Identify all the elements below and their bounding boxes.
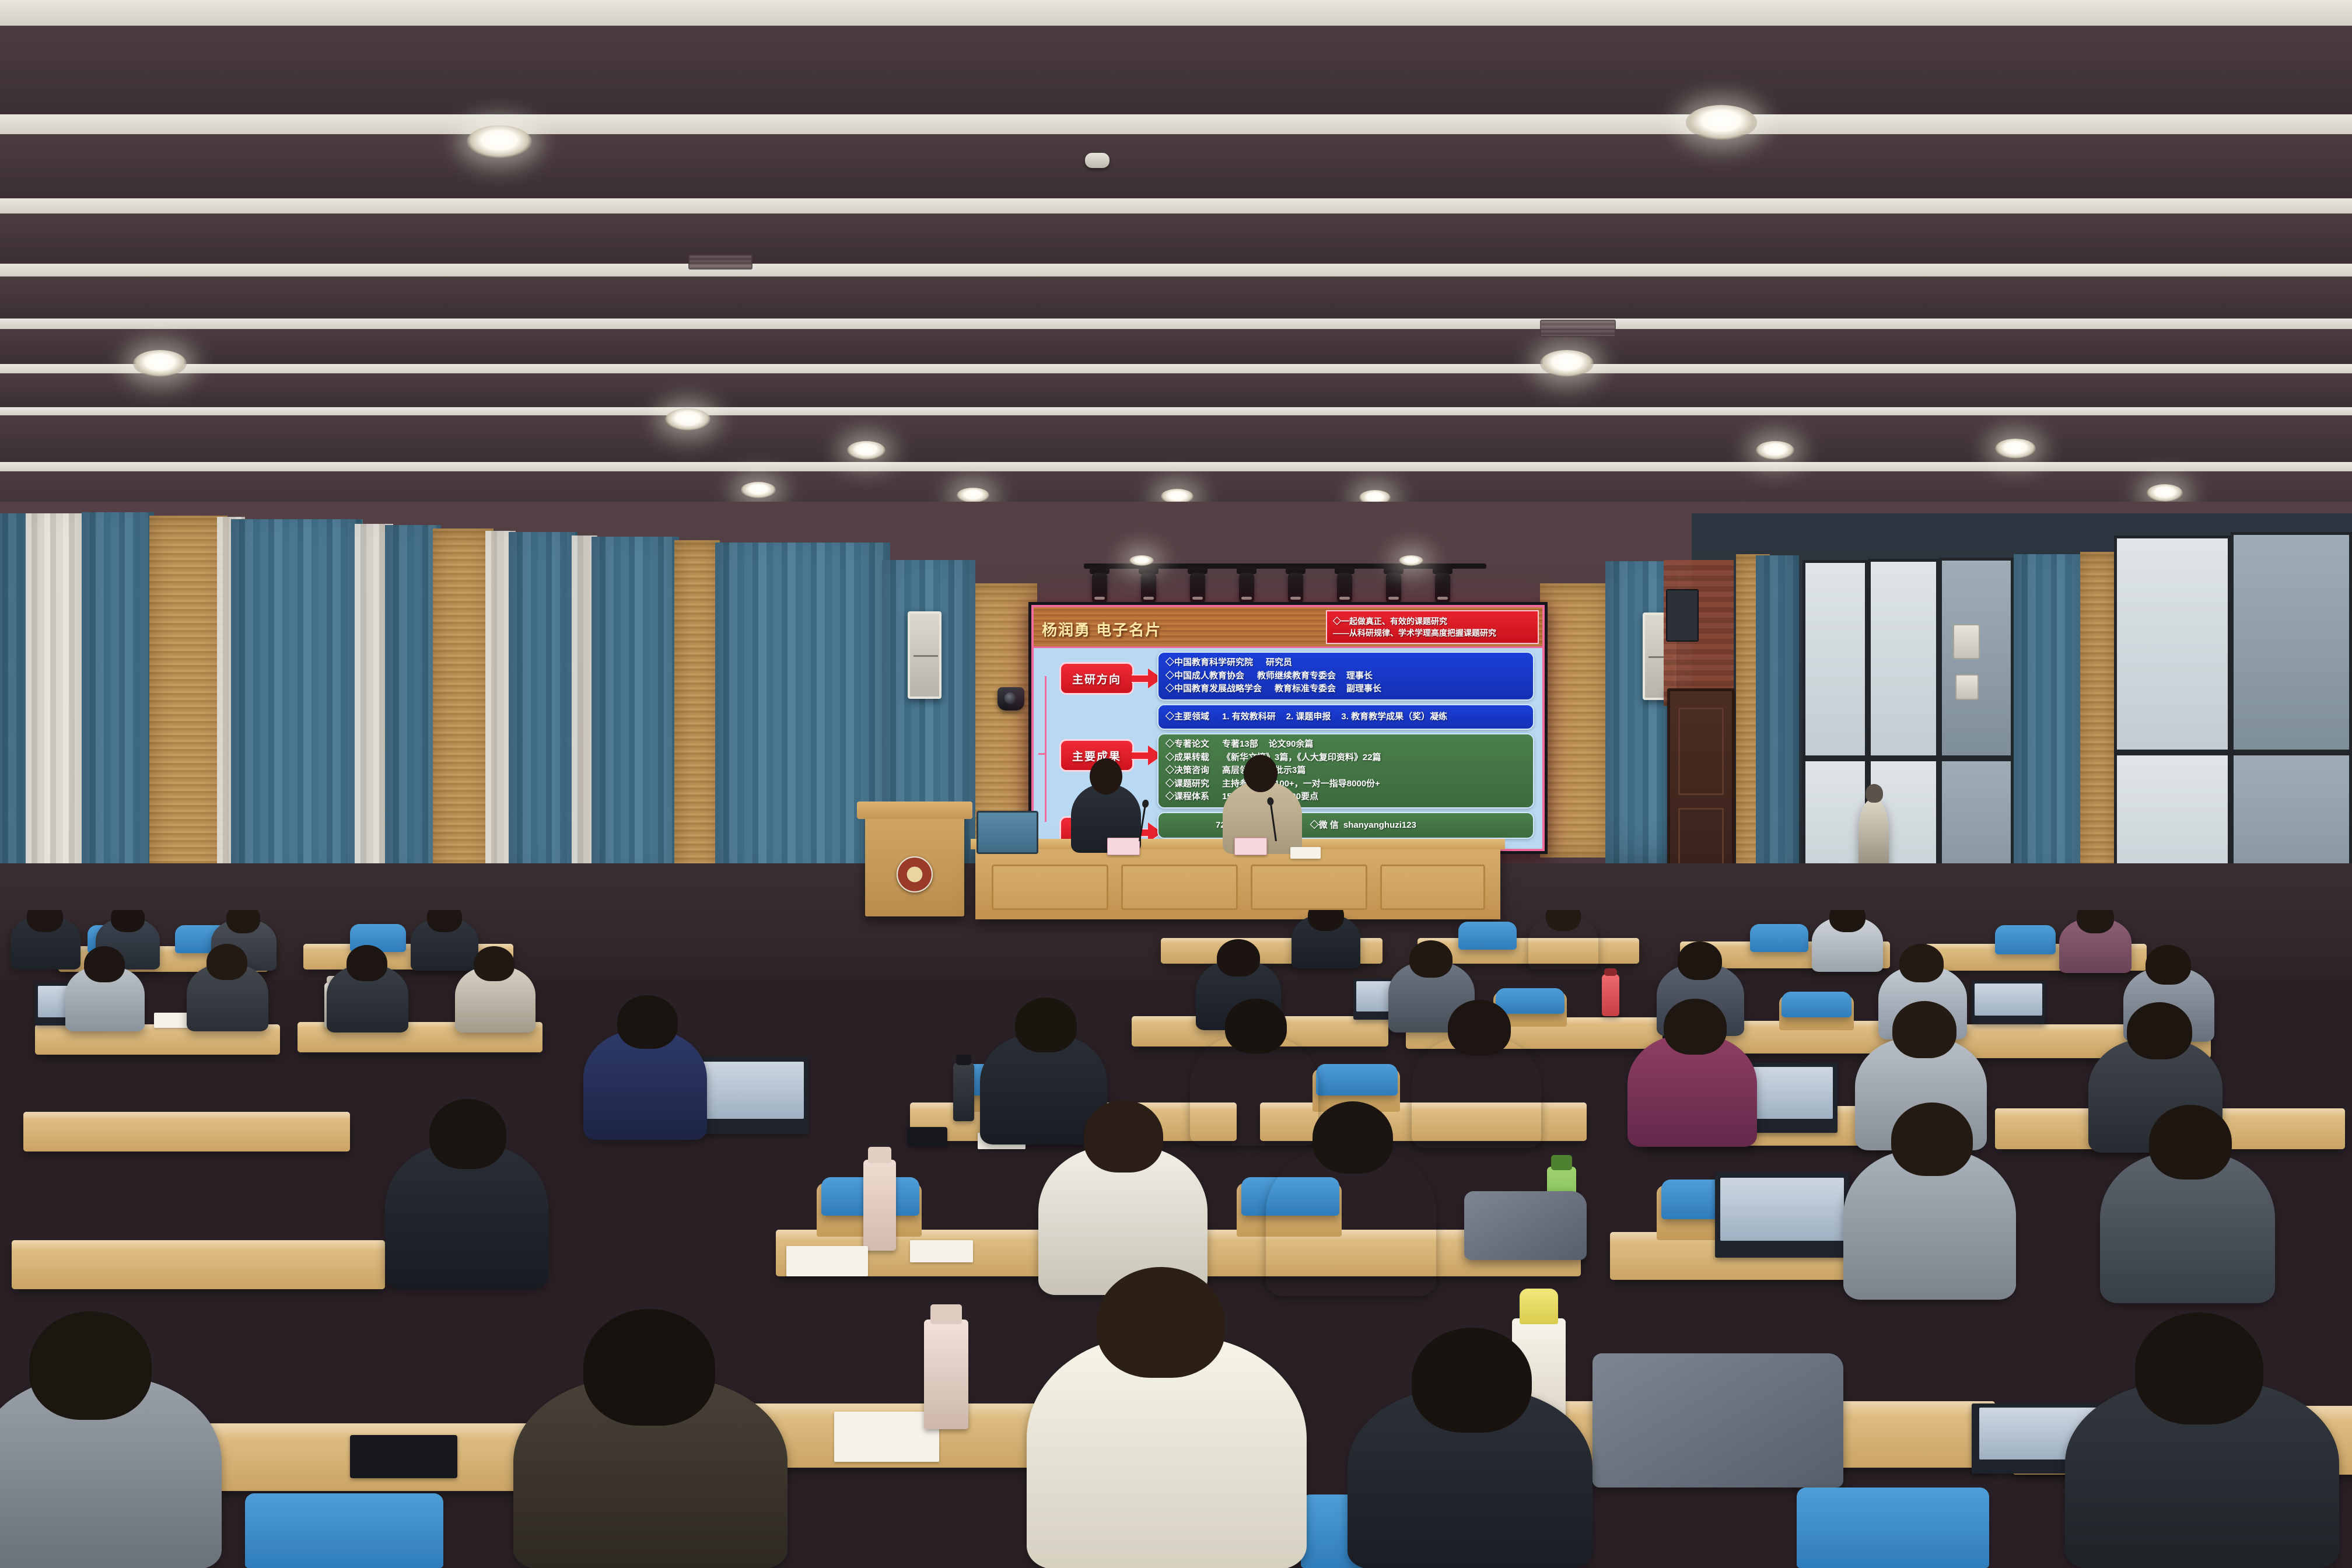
affiliation-org: ◇中国成人教育协会 <box>1165 670 1244 683</box>
audience-head <box>29 1311 152 1420</box>
audience-head <box>2135 1312 2263 1424</box>
sheer-curtain <box>26 513 90 922</box>
audience-head <box>1899 944 1944 982</box>
audience-chair <box>1995 925 2056 954</box>
achievement-label: ◇专著论文 <box>1165 738 1209 751</box>
institution-emblem <box>897 856 933 892</box>
smartphone[interactable] <box>908 1127 947 1146</box>
backpack <box>1592 1353 1843 1487</box>
thermos-bottle <box>924 1319 968 1429</box>
ceiling-downlight <box>957 488 989 503</box>
audience-chair <box>1316 1064 1398 1095</box>
wall-speaker <box>908 611 942 699</box>
paper-sheet <box>910 1240 973 1262</box>
achievement-label: ◇课程体系 <box>1165 790 1209 804</box>
audience-chair <box>1458 922 1517 950</box>
affiliation-dept: 研究员 <box>1266 656 1292 670</box>
fields-box: ◇主要领域 1. 有效教科研 2. 课题申报 3. 教育教学成果（奖）凝练 <box>1157 704 1534 730</box>
wood-wall-panel <box>1540 583 1610 857</box>
ceiling-vent <box>1540 320 1616 337</box>
contact-row: 72829 ◇微 信 shanyanghuzi123 <box>1165 819 1526 832</box>
track-light <box>1337 573 1352 603</box>
callout-line-2: ——从科研规律、学术学理高度把握课题研究 <box>1333 627 1538 639</box>
affiliation-row: ◇中国教育发展战略学会 教育标准专委会 副理事长 <box>1165 682 1526 696</box>
audience-chair <box>1797 1487 1989 1568</box>
audience-head <box>84 946 125 982</box>
callout-line-1: ◇一起做真正、有效的课题研究 <box>1333 615 1538 627</box>
audience-head <box>1084 1100 1163 1172</box>
achievement-row: ◇决策咨询 高层领导 重 要批示3篇 <box>1165 764 1526 778</box>
curtain-panel <box>0 513 29 922</box>
water-bottle <box>1602 974 1619 1016</box>
wood-wall-panel <box>149 516 228 918</box>
audience-head <box>474 946 514 981</box>
field-item: 3. 教育教学成果（奖）凝练 <box>1341 710 1447 724</box>
spine-tick <box>1038 753 1046 755</box>
speaker-head <box>1244 755 1277 792</box>
ceiling-downlight <box>467 125 532 158</box>
audience-head <box>1829 910 1866 932</box>
track-light <box>1288 573 1303 603</box>
audience-head <box>1409 940 1452 978</box>
window-pane <box>1868 559 1939 758</box>
contact-wechat-label: ◇微 信 <box>1310 819 1339 832</box>
ceiling-downlight <box>1540 350 1594 377</box>
track-accent-light <box>1129 555 1154 566</box>
lecture-hall-photo: 杨润勇 电子名片 ◇一起做真正、有效的课题研究 ——从科研规律、学术学理高度把握… <box>0 0 2352 1568</box>
curtain-panel <box>509 532 577 921</box>
window-pane <box>1803 560 1868 758</box>
audience-head <box>1225 999 1287 1053</box>
affiliation-dept: 教师继续教育专委会 <box>1257 670 1336 683</box>
ceiling-downlight <box>847 441 885 460</box>
achievement-extra: 论文90余篇 <box>1269 738 1314 751</box>
track-light <box>1386 573 1401 603</box>
field-item: 2. 课题申报 <box>1286 710 1331 724</box>
track-light <box>1435 573 1450 603</box>
smoke-detector-icon <box>1085 153 1109 168</box>
affiliation-row: ◇中国成人教育协会 教师继续教育专委会 理事长 <box>1165 670 1526 683</box>
audience-head <box>1678 942 1722 980</box>
audience-head <box>427 910 462 932</box>
thermos-bottle <box>863 1160 896 1251</box>
thermos-bottle <box>953 1063 974 1121</box>
audience-head <box>1308 910 1344 931</box>
audience-area: 29 <box>0 910 2352 1568</box>
head-table <box>975 845 1500 919</box>
audience-chair <box>1750 924 1808 952</box>
audience-head <box>111 910 145 932</box>
notebook <box>834 1412 939 1462</box>
track-light <box>1141 573 1156 603</box>
audience-head <box>1015 998 1077 1052</box>
slide-header-callout: ◇一起做真正、有效的课题研究 ——从科研规律、学术学理高度把握课题研究 <box>1326 610 1539 644</box>
achievement-row: ◇课程体系 15专题 100观点 300要点 <box>1165 790 1526 804</box>
curtain-panel <box>82 512 154 921</box>
curtain-panel <box>231 519 363 922</box>
affiliations-box: ◇中国教育科学研究院 研究员 ◇中国成人教育协会 教师继续教育专委会 理事长 ◇… <box>1157 652 1534 701</box>
flask-cap <box>1520 1289 1558 1324</box>
ceiling-downlight <box>1995 439 2036 459</box>
audience-head <box>1217 939 1260 977</box>
curtain-panel <box>1756 555 1799 916</box>
slide-title: 杨润勇 电子名片 <box>1042 618 1161 640</box>
achievement-row: ◇成果转载 《新华文摘》3篇，《人大复印资料》22篇 <box>1165 751 1526 765</box>
affiliation-org: ◇中国教育科学研究院 <box>1165 656 1253 670</box>
ceiling-downlight <box>1686 105 1757 140</box>
audience-head <box>206 944 247 980</box>
notebook <box>786 1246 868 1276</box>
name-placard <box>1107 838 1140 855</box>
track-light <box>1239 573 1254 603</box>
air-conditioner-unit <box>1955 674 1979 700</box>
ceiling-downlight <box>741 482 776 498</box>
laptop[interactable] <box>1972 981 2045 1024</box>
audience-chair <box>1781 992 1852 1017</box>
audience-head <box>1448 1000 1511 1056</box>
audience-head <box>2127 1002 2192 1059</box>
ceiling-downlight <box>1756 441 1794 460</box>
audience-chair <box>1496 988 1564 1014</box>
audience-head <box>1097 1267 1225 1378</box>
document-on-table <box>1290 847 1321 859</box>
ceiling-downlight <box>2147 484 2183 502</box>
audience-head <box>27 910 63 932</box>
field-item: 1. 有效教科研 <box>1222 710 1276 724</box>
slide-header: 杨润勇 电子名片 ◇一起做真正、有效的课题研究 ——从科研规律、学术学理高度把握… <box>1034 607 1542 648</box>
audience-head <box>617 995 678 1049</box>
audience-head <box>2149 1105 2232 1179</box>
achievement-row: ◇专著论文 专著13部 论文90余篇 <box>1165 738 1526 751</box>
wood-wall-panel <box>433 528 494 921</box>
fields-row: ◇主要领域 1. 有效教科研 2. 课题申报 3. 教育教学成果（奖）凝练 <box>1165 710 1526 724</box>
student-desk <box>12 1240 385 1289</box>
audience-head <box>346 945 387 981</box>
audience-head <box>226 910 260 933</box>
achievements-box: ◇专著论文 专著13部 论文90余篇 ◇成果转载 《新华文摘》3篇，《人大复印资… <box>1157 733 1534 808</box>
laptop[interactable] <box>1715 1172 1849 1258</box>
audience-head <box>1892 1001 1957 1058</box>
audience-head <box>583 1309 715 1426</box>
achievement-row: ◇课题研究 主持参与课题100+，一对一指导8000份+ <box>1165 778 1526 791</box>
stage-monitor <box>977 811 1038 854</box>
audience-head <box>1664 999 1727 1055</box>
label-main-research-direction: 主研方向 <box>1059 662 1134 695</box>
window-pane <box>2231 532 2352 752</box>
name-placard <box>1234 838 1267 855</box>
achievement-label: ◇决策咨询 <box>1165 764 1209 778</box>
fields-label: ◇主要领域 <box>1165 710 1209 724</box>
track-accent-light <box>1399 555 1423 566</box>
audience-head <box>429 1099 506 1169</box>
audience-head <box>1312 1101 1393 1174</box>
ceiling-downlight <box>133 350 187 377</box>
lectern <box>865 808 964 916</box>
lectern-top <box>857 801 972 819</box>
track-light <box>1092 573 1107 603</box>
air-conditioner-unit <box>1953 624 1980 659</box>
backpack <box>1464 1191 1587 1260</box>
ceiling-vent <box>688 254 752 269</box>
ceiling <box>0 0 2352 525</box>
window-pane <box>2114 535 2231 752</box>
audience-head <box>1546 910 1581 931</box>
connector-spine <box>1045 676 1046 822</box>
audience-head <box>1891 1102 1973 1176</box>
achievement-label: ◇成果转载 <box>1165 751 1209 765</box>
affiliation-org: ◇中国教育发展战略学会 <box>1165 682 1262 696</box>
contact-box: 72829 ◇微 信 shanyanghuzi123 <box>1157 812 1534 839</box>
audience-head <box>2077 910 2114 933</box>
slide-content-column: ◇中国教育科学研究院 研究员 ◇中国成人教育协会 教师继续教育专委会 理事长 ◇… <box>1157 652 1534 846</box>
audience-head <box>2145 945 2191 985</box>
achievement-value: 专著13部 <box>1222 738 1258 751</box>
speaker-head <box>1090 758 1122 794</box>
wall-equipment-box <box>1666 589 1699 642</box>
achievement-label: ◇课题研究 <box>1165 778 1209 791</box>
track-light <box>1190 573 1205 603</box>
affiliation-row: ◇中国教育科学研究院 研究员 <box>1165 656 1526 670</box>
wood-wall-panel <box>2080 552 2116 916</box>
ptz-camera <box>998 687 1024 710</box>
contact-wechat-id: shanyanghuzi123 <box>1343 819 1416 832</box>
audience-chair <box>245 1493 443 1568</box>
achievement-value: 《新华文摘》3篇，《人大复印资料》22篇 <box>1222 751 1381 765</box>
affiliation-title: 副理事长 <box>1346 682 1381 696</box>
label-text: 主研方向 <box>1072 671 1121 687</box>
ceiling-downlight <box>665 408 710 430</box>
affiliation-title: 理事长 <box>1346 670 1373 683</box>
person-head <box>1866 784 1883 803</box>
audience-head <box>1412 1328 1532 1433</box>
curtain-panel <box>2014 554 2087 916</box>
student-desk <box>23 1112 350 1151</box>
affiliation-dept: 教育标准专委会 <box>1275 682 1336 696</box>
smartphone[interactable] <box>350 1435 457 1478</box>
